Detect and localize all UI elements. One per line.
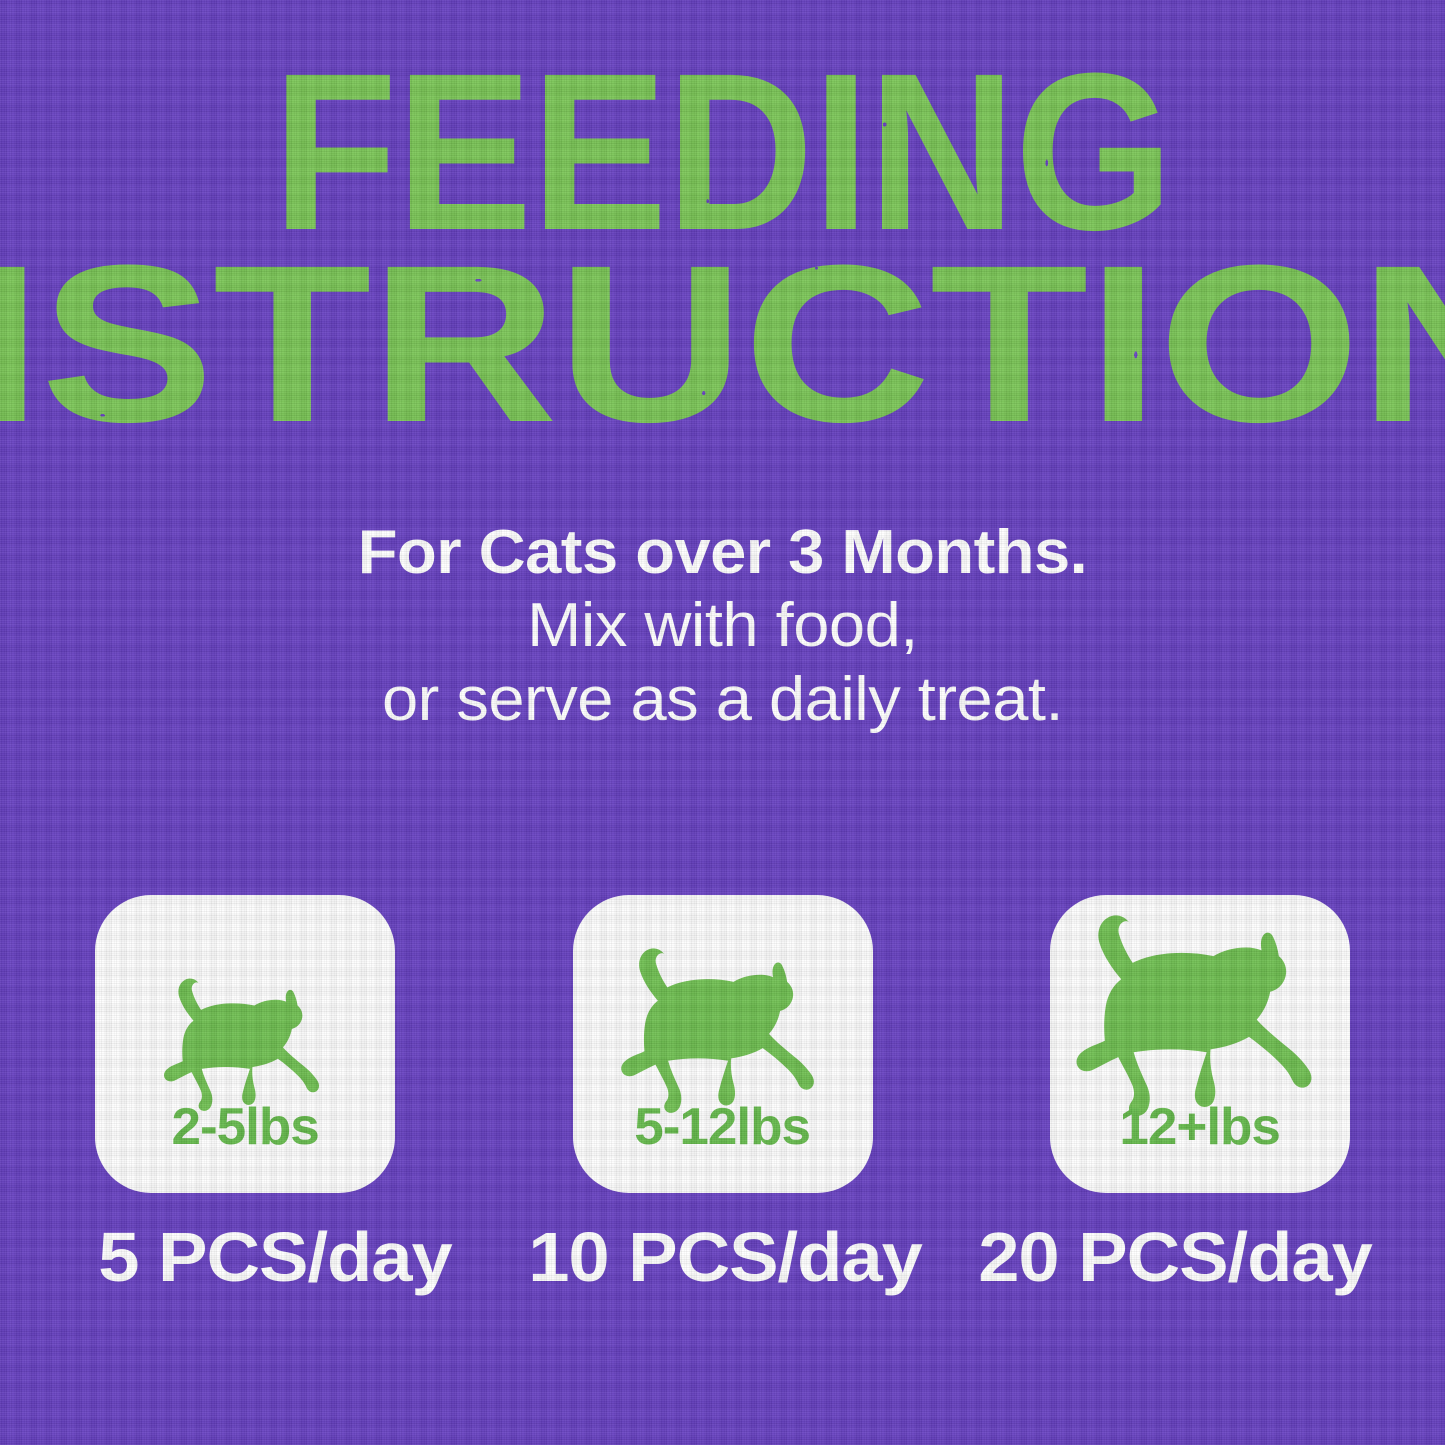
cat-icon-holder <box>573 913 873 1125</box>
subtitle-mix-line: Mix with food, <box>0 591 1445 660</box>
weight-range-label: 12+lbs <box>1120 1101 1280 1153</box>
dose-label-large: 20 PCS/day <box>947 1222 1403 1292</box>
feeding-instructions-poster: FEEDING INSTRUCTIONS For Cats over 3 Mon… <box>0 0 1445 1445</box>
dose-labels-row: 5 PCS/day 10 PCS/day 20 PCS/day <box>60 1222 1390 1292</box>
page-title: FEEDING INSTRUCTIONS <box>0 52 1445 424</box>
weight-card-medium: 5-12lbs <box>573 895 873 1193</box>
title-line-instructions: INSTRUCTIONS <box>0 244 1445 446</box>
subtitle-age-line: For Cats over 3 Months. <box>0 518 1445 587</box>
weight-range-label: 5-12lbs <box>635 1101 811 1153</box>
weight-cards-row: 2-5lbs 5-12lbs 12+lbs <box>95 895 1350 1193</box>
weight-range-label: 2-5lbs <box>171 1101 318 1153</box>
weight-card-small: 2-5lbs <box>95 895 395 1193</box>
dose-label-medium: 10 PCS/day <box>497 1222 953 1292</box>
subtitle-treat-line: or serve as a daily treat. <box>0 665 1445 734</box>
subtitle-block: For Cats over 3 Months. Mix with food, o… <box>0 518 1445 734</box>
cat-icon-holder <box>1050 901 1350 1131</box>
weight-card-large: 12+lbs <box>1050 895 1350 1193</box>
cat-icon-holder <box>95 921 395 1121</box>
title-line-instructions-text: INSTRUCTIONS <box>0 219 1445 469</box>
dose-label-small: 5 PCS/day <box>47 1222 503 1292</box>
